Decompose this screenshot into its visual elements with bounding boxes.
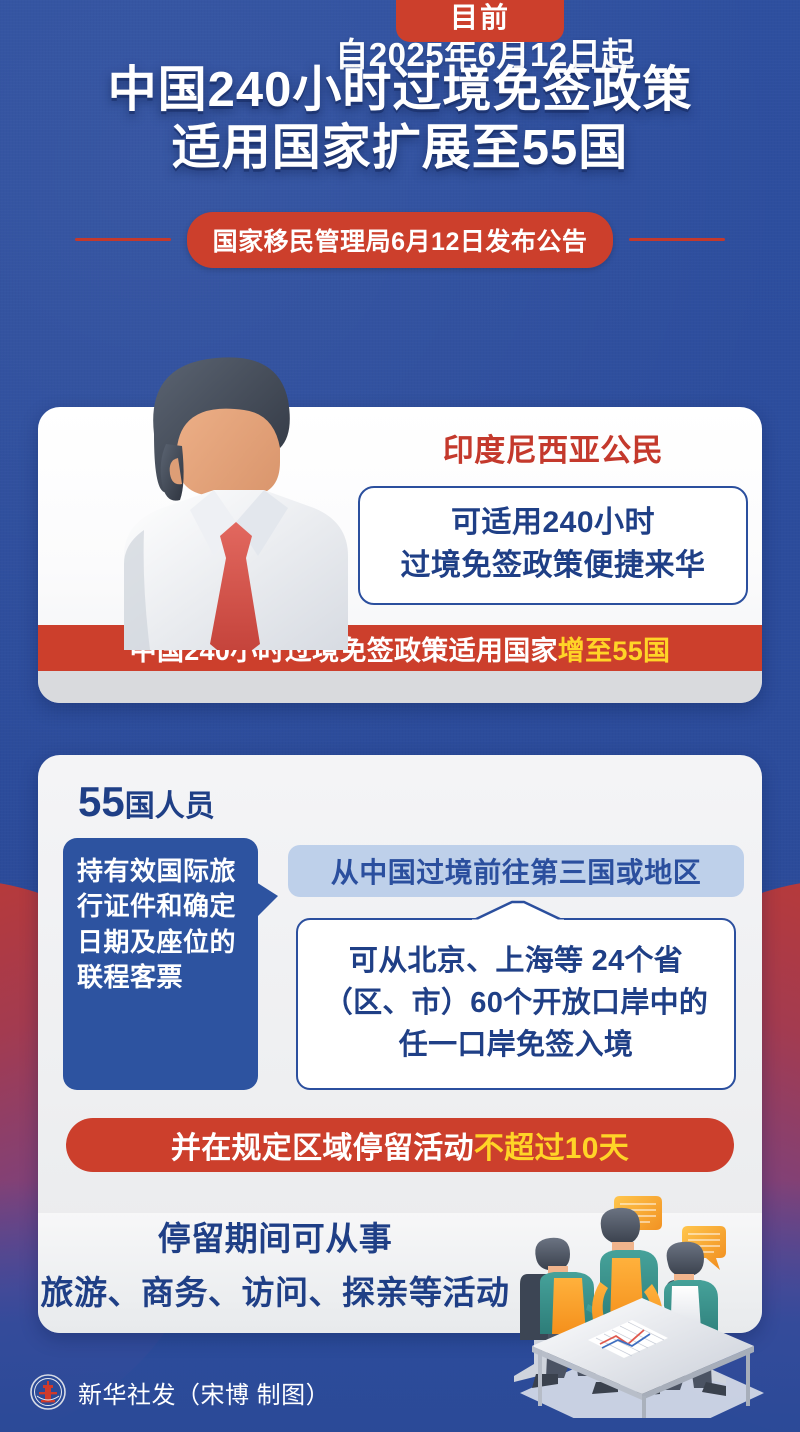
requirements-text: 持有效国际旅行证件和确定日期及座位的联程客票 — [77, 854, 244, 995]
permitted-activities-line-1: 停留期间可从事 — [40, 1212, 510, 1260]
stay-limit-highlight: 不超过10天 — [474, 1132, 629, 1165]
card1-statement-box: 可适用240小时 过境免签政策便捷来华 — [358, 486, 748, 605]
stay-limit-prefix: 并在规定区域停留活动 — [171, 1132, 474, 1165]
card1-footer-strip — [38, 671, 762, 703]
eligible-countries-unit: 国人员 — [125, 790, 215, 823]
business-meeting-illustration — [492, 1188, 792, 1418]
infographic-poster: 中国240小时过境免签政策 适用国家扩展至55国 国家移民管理局6月12日发布公… — [0, 0, 800, 1432]
eligible-countries-number: 55 — [78, 778, 125, 825]
stay-limit-banner: 并在规定区域停留活动不超过10天 — [66, 1118, 734, 1172]
header: 中国240小时过境免签政策 适用国家扩展至55国 国家移民管理局6月12日发布公… — [0, 62, 800, 268]
current-status-badge-label: 目前 — [450, 0, 510, 36]
card1-content: 印度尼西亚公民 可适用240小时 过境免签政策便捷来华 — [358, 425, 748, 605]
card1-red-banner-highlight: 增至55国 — [558, 636, 671, 666]
footer-credit: 新华社发（宋博 制图） — [78, 1375, 330, 1410]
entry-ports-box: 可从北京、上海等 24个省 （区、市）60个开放口岸中的 任一口岸免签入境 — [296, 918, 736, 1090]
poster-title-line-1: 中国240小时过境免签政策 — [0, 62, 800, 120]
stay-limit-banner-text: 并在规定区域停留活动不超过10天 — [171, 1123, 629, 1167]
permitted-activities: 停留期间可从事 旅游、商务、访问、探亲等活动 — [40, 1212, 510, 1314]
poster-title-line-2: 适用国家扩展至55国 — [0, 120, 800, 178]
entry-ports-line-3: 任一口岸免签入境 — [324, 1025, 708, 1067]
requirements-box: 持有效国际旅行证件和确定日期及座位的联程客票 — [63, 838, 258, 1090]
decorative-line-left — [75, 238, 171, 241]
connector-notch-icon — [472, 900, 564, 922]
announcement-badge-row: 国家移民管理局6月12日发布公告 — [0, 212, 800, 268]
businessman-illustration — [118, 350, 388, 650]
entry-ports-line-1: 可从北京、上海等 24个省 — [324, 941, 708, 983]
xinhua-logo-icon — [30, 1374, 66, 1410]
current-status-badge: 目前 — [396, 0, 564, 42]
transit-purpose-text: 从中国过境前往第三国或地区 — [331, 851, 702, 891]
card1-statement-line-2: 过境免签政策便捷来华 — [370, 545, 736, 588]
permitted-activities-line-2: 旅游、商务、访问、探亲等活动 — [40, 1266, 510, 1314]
eligible-countries-label: 55国人员 — [78, 778, 215, 826]
announcement-badge: 国家移民管理局6月12日发布公告 — [187, 212, 614, 268]
entry-ports-line-2: （区、市）60个开放口岸中的 — [324, 983, 708, 1025]
card1-subject-label: 印度尼西亚公民 — [358, 425, 748, 470]
transit-purpose-box: 从中国过境前往第三国或地区 — [288, 845, 744, 897]
footer: 新华社发（宋博 制图） — [30, 1374, 330, 1410]
entry-ports-text: 可从北京、上海等 24个省 （区、市）60个开放口岸中的 任一口岸免签入境 — [324, 941, 708, 1066]
card1-statement-line-1: 可适用240小时 — [370, 502, 736, 545]
decorative-line-right — [629, 238, 725, 241]
